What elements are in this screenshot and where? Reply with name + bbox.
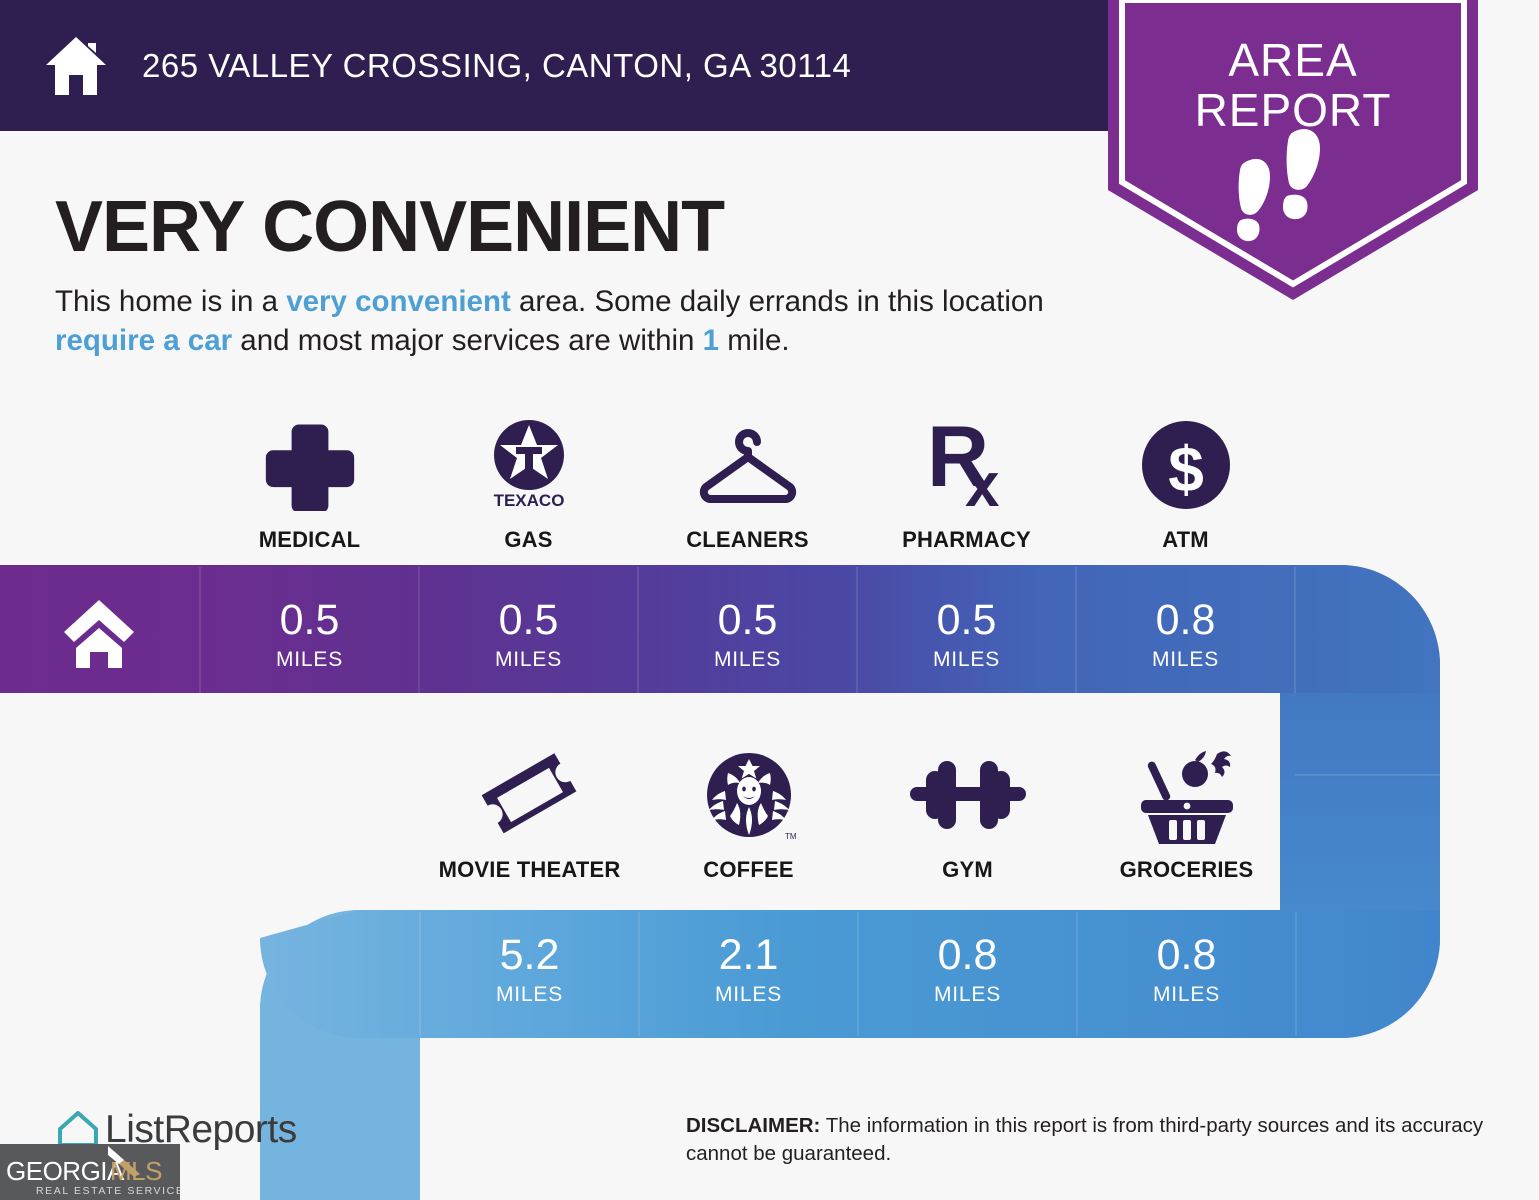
distance-unit: MILES xyxy=(1152,648,1219,672)
distance-unit: MILES xyxy=(933,648,1000,672)
amenity-label: ATM xyxy=(1162,527,1209,553)
amenity-label: GROCERIES xyxy=(1120,857,1254,883)
svg-text:$: $ xyxy=(1168,433,1204,505)
amenity-medical[interactable]: MEDICAL xyxy=(200,415,419,553)
distance-cell: 0.5 MILES xyxy=(638,585,857,685)
distance-unit: MILES xyxy=(715,983,782,1007)
starbucks-siren-icon: TM xyxy=(699,745,799,845)
distance-value: 0.8 xyxy=(1157,934,1217,977)
distance-values-row-2: 5.2 MILES 2.1 MILES 0.8 MILES 0.8 MILES xyxy=(420,920,1296,1020)
home-marker-icon xyxy=(60,598,138,668)
amenity-groceries[interactable]: GROCERIES xyxy=(1077,745,1296,883)
amenity-movie-theater[interactable]: MOVIE THEATER xyxy=(420,745,639,883)
blurb-highlight-1: very convenient xyxy=(286,285,511,318)
blurb-part-1: This home is in a xyxy=(55,285,286,318)
amenity-coffee[interactable]: TM COFFEE xyxy=(639,745,858,883)
grocery-basket-icon xyxy=(1133,745,1241,845)
amenity-label: PHARMACY xyxy=(902,527,1031,553)
distance-cell: 0.5 MILES xyxy=(857,585,1076,685)
page-title: VERY CONVENIENT xyxy=(55,186,724,268)
banner-title: AREA REPORT xyxy=(1108,36,1478,135)
distance-value: 0.5 xyxy=(718,599,778,642)
distance-value: 0.5 xyxy=(937,599,997,642)
blurb-part-4: mile. xyxy=(719,324,789,357)
svg-text:MLS: MLS xyxy=(110,1156,162,1186)
distance-cell: 0.5 MILES xyxy=(200,585,419,685)
distance-value: 5.2 xyxy=(500,934,560,977)
svg-text:x: x xyxy=(965,451,1000,512)
amenity-icons-row-1: MEDICAL TEXACO GAS CLEANER xyxy=(200,415,1295,553)
amenity-label: CLEANERS xyxy=(686,527,809,553)
distance-value: 0.5 xyxy=(280,599,340,642)
amenity-label: GYM xyxy=(942,857,993,883)
blurb-highlight-3: 1 xyxy=(703,324,719,357)
distance-value: 2.1 xyxy=(719,934,779,977)
georgia-mls-logo: GEORGIA MLS REAL ESTATE SERVICES xyxy=(0,1144,180,1200)
dumbbell-icon xyxy=(908,745,1028,845)
distance-cell: 2.1 MILES xyxy=(639,920,858,1020)
amenity-label: COFFEE xyxy=(703,857,793,883)
amenity-pharmacy[interactable]: R x PHARMACY xyxy=(857,415,1076,553)
ticket-icon xyxy=(478,745,582,845)
amenity-label: MOVIE THEATER xyxy=(439,857,621,883)
distance-unit: MILES xyxy=(496,983,563,1007)
amenity-label: GAS xyxy=(504,527,552,553)
blurb-part-2: area. Some daily errands in this locatio… xyxy=(511,285,1044,318)
amenity-atm[interactable]: $ ATM xyxy=(1076,415,1295,553)
amenity-cleaners[interactable]: CLEANERS xyxy=(638,415,857,553)
amenity-icons-row-2: MOVIE THEATER xyxy=(420,745,1296,883)
blurb-part-3: and most major services are within xyxy=(232,324,703,357)
dollar-circle-icon: $ xyxy=(1138,415,1234,515)
banner-line-2: REPORT xyxy=(1108,86,1478,136)
distance-unit: MILES xyxy=(276,648,343,672)
header-bar: 265 VALLEY CROSSING, CANTON, GA 30114 xyxy=(0,0,1140,131)
texaco-star-icon: TEXACO xyxy=(483,415,575,515)
banner-line-1: AREA xyxy=(1108,36,1478,86)
distance-unit: MILES xyxy=(1153,983,1220,1007)
area-report-page: 265 VALLEY CROSSING, CANTON, GA 30114 AR… xyxy=(0,0,1539,1200)
svg-text:GEORGIA: GEORGIA xyxy=(6,1156,125,1186)
svg-text:TEXACO: TEXACO xyxy=(493,491,564,510)
distance-value: 0.8 xyxy=(938,934,998,977)
distance-cell: 0.8 MILES xyxy=(858,920,1077,1020)
disclaimer-label: DISCLAIMER: xyxy=(686,1114,820,1137)
svg-text:REAL ESTATE SERVICES: REAL ESTATE SERVICES xyxy=(36,1185,180,1197)
distance-cell: 0.5 MILES xyxy=(419,585,638,685)
distance-values-row-1: 0.5 MILES 0.5 MILES 0.5 MILES 0.5 MILES … xyxy=(200,585,1295,685)
area-report-banner: AREA REPORT xyxy=(1108,0,1478,300)
distance-unit: MILES xyxy=(934,983,1001,1007)
property-address: 265 VALLEY CROSSING, CANTON, GA 30114 xyxy=(142,47,851,85)
amenity-gym[interactable]: GYM xyxy=(858,745,1077,883)
blurb-highlight-2: require a car xyxy=(55,324,232,357)
distance-value: 0.8 xyxy=(1156,599,1216,642)
distance-cell: 0.8 MILES xyxy=(1077,920,1296,1020)
home-icon xyxy=(42,35,110,97)
distance-unit: MILES xyxy=(714,648,781,672)
amenity-label: MEDICAL xyxy=(259,527,361,553)
medical-cross-icon xyxy=(264,415,356,515)
distance-cell: 0.8 MILES xyxy=(1076,585,1295,685)
svg-text:TM: TM xyxy=(785,832,797,841)
clothes-hanger-icon xyxy=(696,415,800,515)
amenity-gas[interactable]: TEXACO GAS xyxy=(419,415,638,553)
distance-cell: 5.2 MILES xyxy=(420,920,639,1020)
distance-unit: MILES xyxy=(495,648,562,672)
disclaimer: DISCLAIMER: The information in this repo… xyxy=(686,1112,1496,1167)
distance-value: 0.5 xyxy=(499,599,559,642)
rx-icon: R x xyxy=(921,415,1013,515)
summary-text: This home is in a very convenient area. … xyxy=(55,282,1095,360)
